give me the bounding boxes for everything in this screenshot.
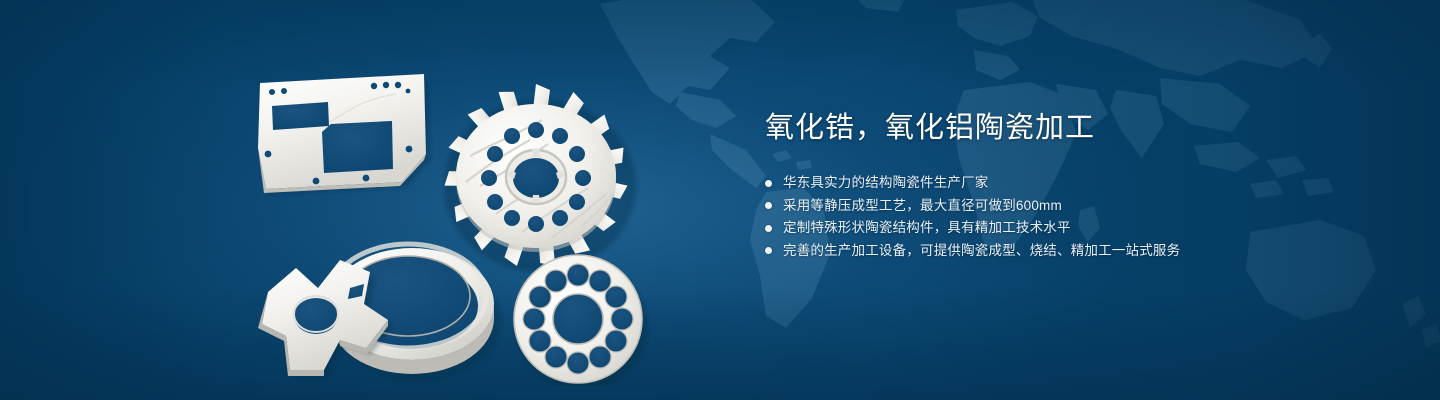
- list-item-label: 华东具实力的结构陶瓷件生产厂家: [783, 172, 989, 195]
- list-item-label: 采用等静压成型工艺，最大直径可做到600mm: [783, 195, 1062, 218]
- banner-copy: 氧化锆，氧化铝陶瓷加工 华东具实力的结构陶瓷件生产厂家 采用等静压成型工艺，最大…: [765, 108, 1385, 262]
- product-photo-group: [236, 36, 676, 386]
- list-item-label: 完善的生产加工设备，可提供陶瓷成型、烧结、精加工一站式服务: [783, 240, 1180, 263]
- ceramic-perforated-disc-part: [514, 255, 648, 386]
- feature-list: 华东具实力的结构陶瓷件生产厂家 采用等静压成型工艺，最大直径可做到600mm 定…: [765, 172, 1385, 262]
- ceramic-plate-part: [258, 74, 430, 194]
- list-item: 完善的生产加工设备，可提供陶瓷成型、烧结、精加工一站式服务: [765, 240, 1385, 263]
- list-item: 华东具实力的结构陶瓷件生产厂家: [765, 172, 1385, 195]
- list-item: 采用等静压成型工艺，最大直径可做到600mm: [765, 195, 1385, 218]
- list-item: 定制特殊形状陶瓷结构件，具有精加工技术水平: [765, 217, 1385, 240]
- hero-banner: 氧化锆，氧化铝陶瓷加工 华东具实力的结构陶瓷件生产厂家 采用等静压成型工艺，最大…: [0, 0, 1440, 400]
- bullet-dot-icon: [765, 180, 772, 187]
- bullet-dot-icon: [765, 225, 772, 232]
- bullet-dot-icon: [765, 247, 772, 254]
- page-title: 氧化锆，氧化铝陶瓷加工: [765, 108, 1385, 148]
- ceramic-impeller-part: [443, 84, 636, 272]
- list-item-label: 定制特殊形状陶瓷结构件，具有精加工技术水平: [783, 217, 1071, 240]
- bullet-dot-icon: [765, 202, 772, 209]
